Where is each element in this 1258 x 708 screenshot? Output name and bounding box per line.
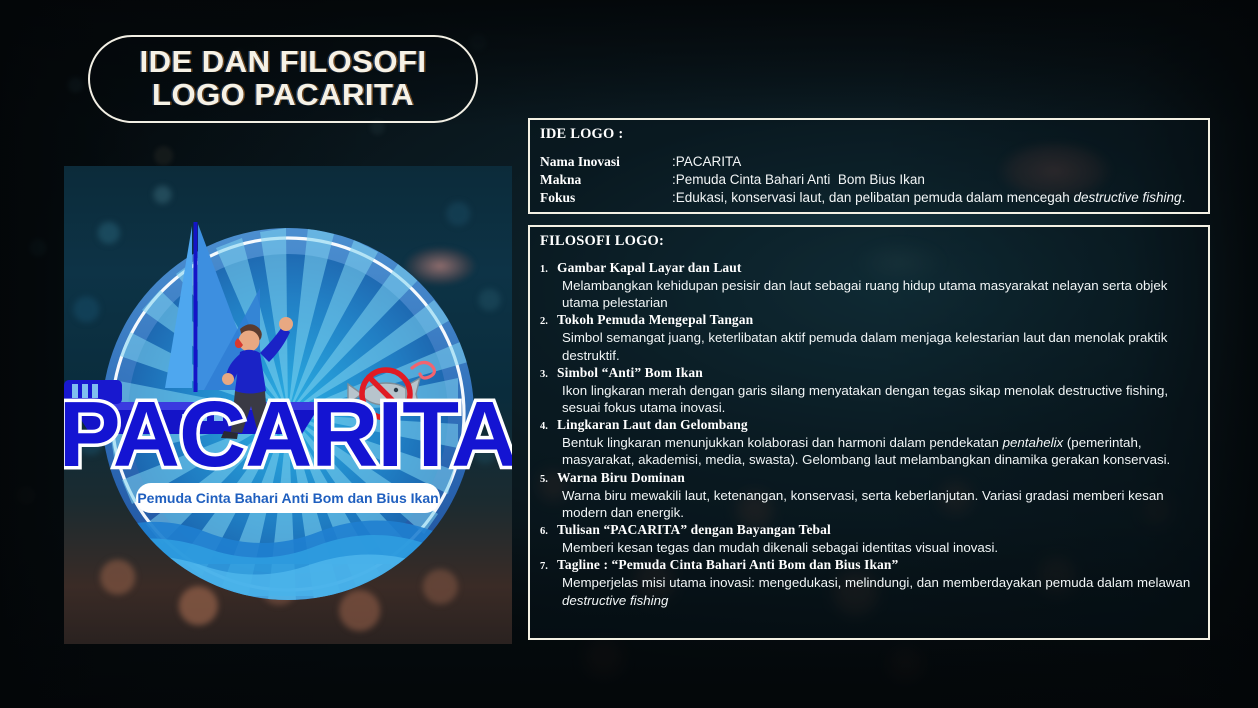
italic-term: destructive fishing — [1074, 190, 1182, 205]
filosofi-item-title: Tulisan “PACARITA” dengan Bayangan Tebal — [557, 522, 831, 539]
filosofi-logo-heading: FILOSOFI LOGO: — [530, 227, 1208, 250]
filosofi-item-heading: 7.Tagline : “Pemuda Cinta Bahari Anti Bo… — [540, 557, 1196, 574]
pacarita-logo-graphic: PACARITA Pemuda Cinta Bahari Anti Bom da… — [64, 166, 512, 644]
filosofi-item-number: 3. — [540, 368, 557, 381]
ide-logo-row: Nama Inovasi:PACARITA — [540, 153, 1208, 171]
ide-logo-row-label: Fokus — [540, 189, 672, 207]
italic-term: destructive fishing — [562, 593, 668, 608]
ide-logo-box: IDE LOGO : Nama Inovasi:PACARITAMakna:Pe… — [528, 118, 1210, 214]
filosofi-item-number: 4. — [540, 420, 557, 433]
ide-logo-rows: Nama Inovasi:PACARITAMakna:Pemuda Cinta … — [530, 143, 1208, 206]
filosofi-list-item: 1.Gambar Kapal Layar dan LautMelambangka… — [540, 260, 1196, 311]
ide-logo-row: Fokus:Edukasi, konservasi laut, dan peli… — [540, 189, 1208, 207]
filosofi-item-title: Simbol “Anti” Bom Ikan — [557, 365, 703, 382]
filosofi-item-body: Warna biru mewakili laut, ketenangan, ko… — [562, 487, 1196, 522]
filosofi-item-body: Memberi kesan tegas dan mudah dikenali s… — [562, 539, 1196, 556]
filosofi-item-heading: 1.Gambar Kapal Layar dan Laut — [540, 260, 1196, 277]
filosofi-list-item: 6.Tulisan “PACARITA” dengan Bayangan Teb… — [540, 522, 1196, 556]
ide-logo-row-value: :Pemuda Cinta Bahari Anti Bom Bius Ikan — [672, 171, 925, 189]
ide-logo-row-label: Nama Inovasi — [540, 153, 672, 171]
ide-logo-row-value: :Edukasi, konservasi laut, dan pelibatan… — [672, 189, 1185, 207]
filosofi-logo-box: FILOSOFI LOGO: 1.Gambar Kapal Layar dan … — [528, 225, 1210, 640]
filosofi-item-title: Lingkaran Laut dan Gelombang — [557, 417, 748, 434]
filosofi-list-item: 2.Tokoh Pemuda Mengepal Tangan Simbol se… — [540, 312, 1196, 363]
filosofi-list-item: 5.Warna Biru Dominan Warna biru mewakili… — [540, 470, 1196, 521]
page-title: IDE DAN FILOSOFI LOGO PACARITA — [140, 46, 427, 112]
ide-logo-row: Makna:Pemuda Cinta Bahari Anti Bom Bius … — [540, 171, 1208, 189]
logo-tagline: Pemuda Cinta Bahari Anti Bom dan Bius Ik… — [137, 490, 438, 506]
slide-title-pill: IDE DAN FILOSOFI LOGO PACARITA — [88, 35, 478, 123]
filosofi-item-number: 1. — [540, 263, 557, 276]
filosofi-item-heading: 3.Simbol “Anti” Bom Ikan — [540, 365, 1196, 382]
filosofi-item-body: Melambangkan kehidupan pesisir dan laut … — [562, 277, 1196, 312]
filosofi-item-heading: 2.Tokoh Pemuda Mengepal Tangan — [540, 312, 1196, 329]
filosofi-item-body: Bentuk lingkaran menunjukkan kolaborasi … — [562, 434, 1196, 469]
filosofi-item-title: Tagline : “Pemuda Cinta Bahari Anti Bom … — [557, 557, 898, 574]
filosofi-logo-list: 1.Gambar Kapal Layar dan LautMelambangka… — [530, 250, 1208, 609]
filosofi-item-number: 7. — [540, 560, 557, 573]
ide-logo-heading: IDE LOGO : — [530, 120, 1208, 143]
filosofi-item-title: Warna Biru Dominan — [557, 470, 685, 487]
filosofi-item-number: 2. — [540, 315, 557, 328]
filosofi-item-body: Ikon lingkaran merah dengan garis silang… — [562, 382, 1196, 417]
filosofi-item-number: 5. — [540, 473, 557, 486]
filosofi-item-heading: 5.Warna Biru Dominan — [540, 470, 1196, 487]
filosofi-item-body: Simbol semangat juang, keterlibatan akti… — [562, 329, 1196, 364]
filosofi-list-item: 3.Simbol “Anti” Bom Ikan Ikon lingkaran … — [540, 365, 1196, 416]
filosofi-list-item: 4.Lingkaran Laut dan GelombangBentuk lin… — [540, 417, 1196, 468]
filosofi-list-item: 7.Tagline : “Pemuda Cinta Bahari Anti Bo… — [540, 557, 1196, 608]
filosofi-item-heading: 4.Lingkaran Laut dan Gelombang — [540, 417, 1196, 434]
filosofi-item-body: Memperjelas misi utama inovasi: mengeduk… — [562, 574, 1196, 609]
filosofi-item-title: Gambar Kapal Layar dan Laut — [557, 260, 742, 277]
filosofi-item-title: Tokoh Pemuda Mengepal Tangan — [557, 312, 753, 329]
logo-wordmark: PACARITA — [64, 382, 512, 486]
ide-logo-row-label: Makna — [540, 171, 672, 189]
slide-canvas: IDE DAN FILOSOFI LOGO PACARITA — [0, 0, 1258, 708]
italic-term: pentahelix — [1003, 435, 1064, 450]
filosofi-item-heading: 6.Tulisan “PACARITA” dengan Bayangan Teb… — [540, 522, 1196, 539]
logo-tagline-pill: Pemuda Cinta Bahari Anti Bom dan Bius Ik… — [136, 483, 440, 513]
filosofi-item-number: 6. — [540, 525, 557, 538]
logo-image: PACARITA Pemuda Cinta Bahari Anti Bom da… — [64, 166, 512, 644]
ide-logo-row-value: :PACARITA — [672, 153, 741, 171]
